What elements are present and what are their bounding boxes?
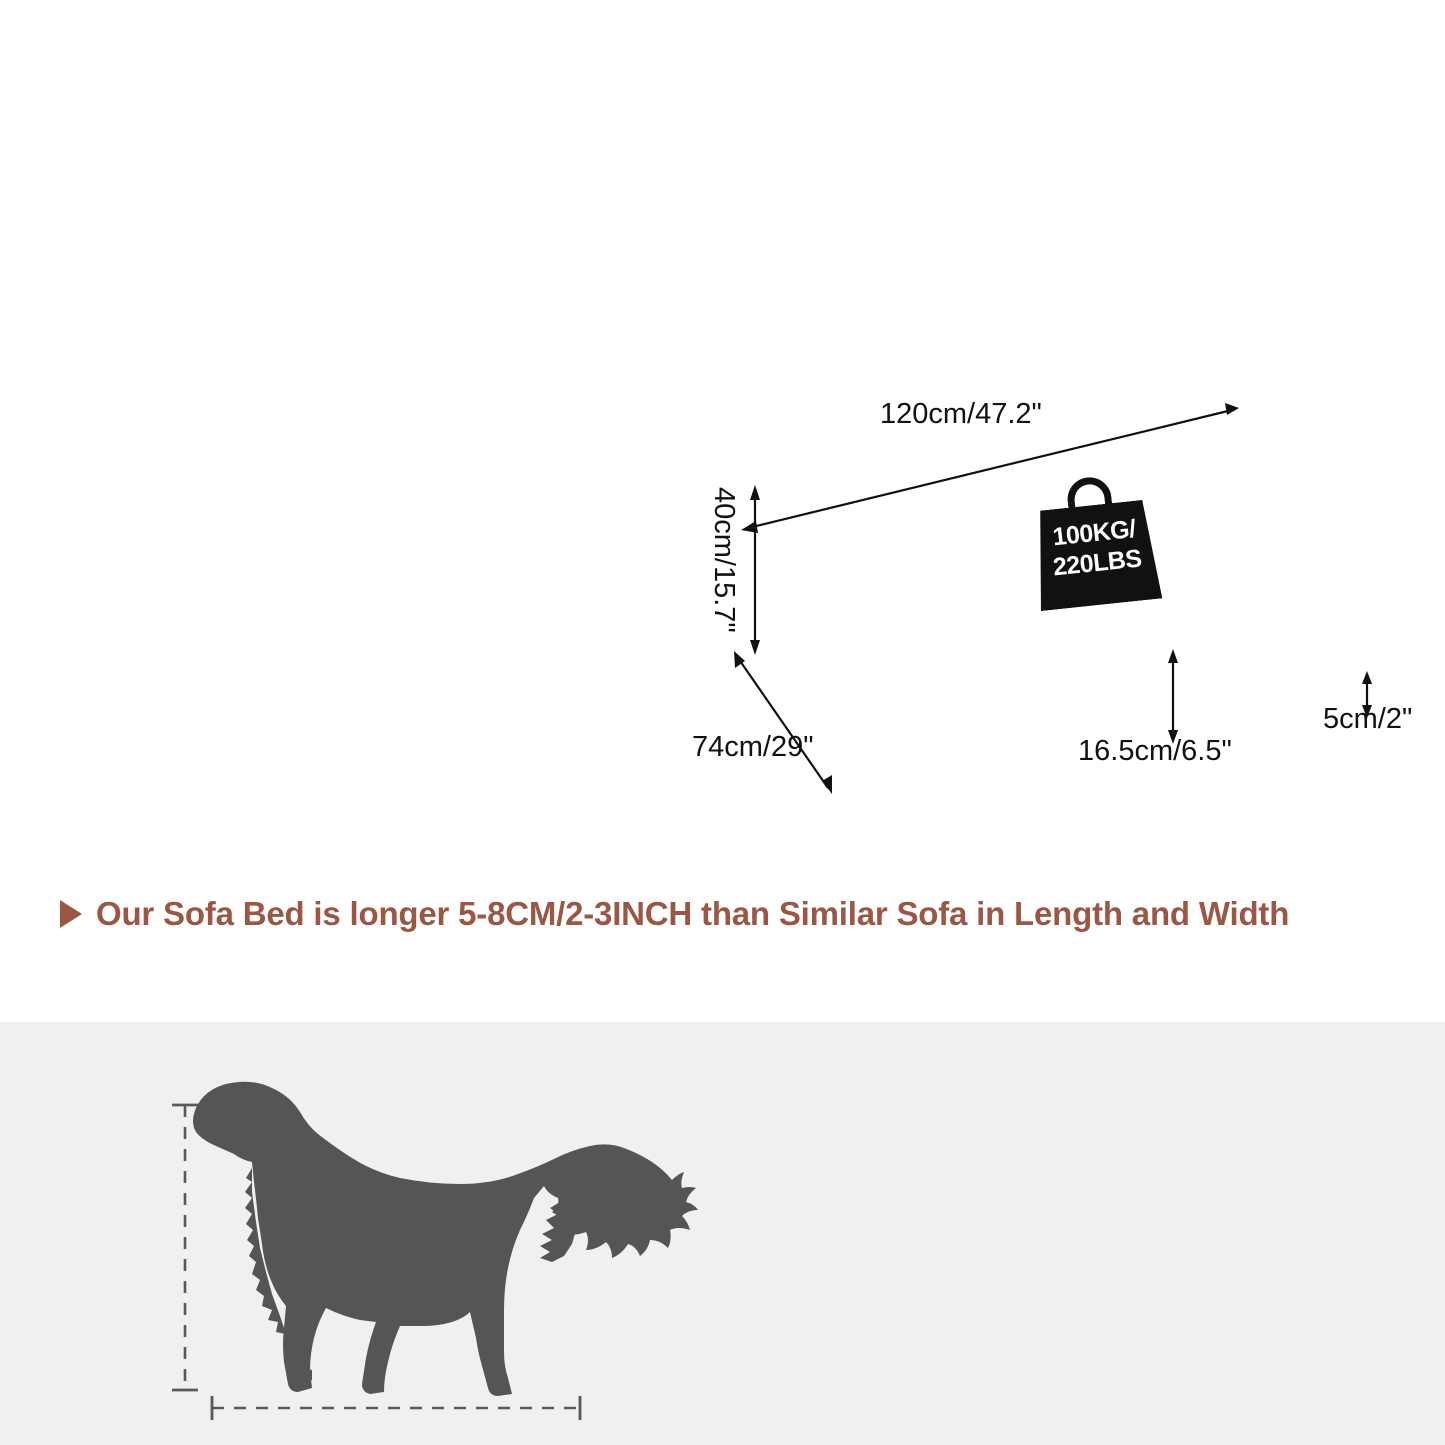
product-information-infographic: — Product Information — Cushion Pad Size… — [0, 0, 1445, 1445]
pet-size-guide-section: Height Body length Height：<57CM/22INCH B… — [0, 1022, 1445, 1445]
cushion-thickness-label: 6cm/2.4" — [22, 578, 135, 611]
sofa-height-label: 40cm/15.7" — [707, 487, 740, 633]
triangle-right-icon — [60, 900, 82, 928]
weight-bag-icon: 100KG/ 220LBS — [1030, 491, 1163, 611]
cushion-pad-heading: Cushion Pad Size — [130, 252, 620, 302]
highlight-bullet-row: Our Sofa Bed is longer 5-8CM/2-3INCH tha… — [60, 895, 1289, 933]
overall-pet-sofa-heading: Overall Pet Sofa — [830, 252, 1310, 302]
chevron-down-arrow-icon — [355, 318, 395, 348]
cushion-length-label: 104.5cm/41.1" — [412, 728, 598, 761]
cushion-pad-diagram — [0, 470, 720, 790]
sofa-width-label: 120cm/47.2" — [880, 398, 1042, 431]
sofa-seat-height-label: 16.5cm/6.5" — [1078, 735, 1232, 768]
highlight-text: Our Sofa Bed is longer 5-8CM/2-3INCH tha… — [96, 895, 1289, 933]
dog-silhouette-icon — [193, 1082, 698, 1396]
sofa-leg-height-label: 5cm/2" — [1323, 703, 1412, 736]
dog-size-diagram — [0, 1022, 760, 1445]
dimensions-section: — Product Information — Cushion Pad Size… — [0, 0, 1445, 1022]
chevron-down-arrow-icon — [1052, 318, 1092, 348]
sofa-depth-label: 74cm/29" — [692, 731, 814, 764]
page-title: — Product Information — — [0, 62, 1445, 153]
cushion-depth-label: 65.5cm/25.8" — [28, 682, 198, 715]
